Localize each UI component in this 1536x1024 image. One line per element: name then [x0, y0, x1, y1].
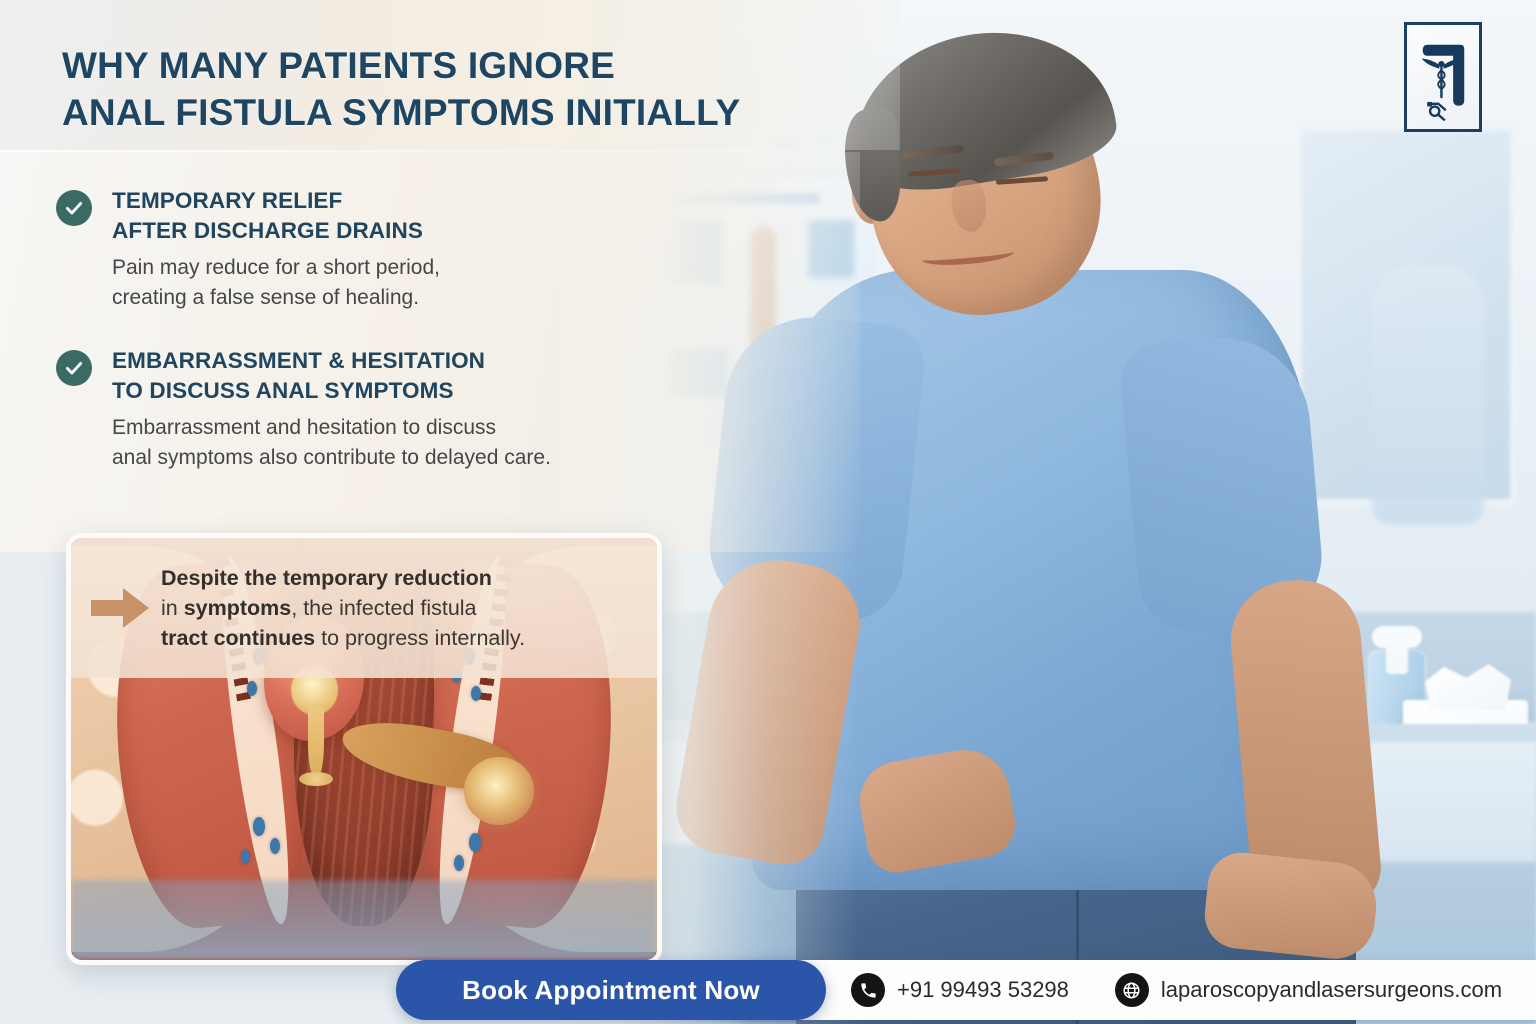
illustration-card: Despite the temporary reduction in sympt…: [66, 533, 662, 965]
callout-text: Despite the temporary reduction in sympt…: [161, 563, 525, 653]
bullet-body: Embarrassment and hesitation to discuss …: [112, 413, 686, 473]
content-panel: WHY MANY PATIENTS IGNORE ANAL FISTULA SY…: [0, 0, 720, 1024]
bottom-cta-bar: Book Appointment Now +91 99493 53298 lap…: [396, 960, 1536, 1020]
bullet-heading: TEMPORARY RELIEF AFTER DISCHARGE DRAINS: [112, 186, 686, 246]
infographic-canvas: WHY MANY PATIENTS IGNORE ANAL FISTULA SY…: [0, 0, 1536, 1024]
bullet-heading-line-2: TO DISCUSS ANAL SYMPTOMS: [112, 376, 686, 406]
bullet-heading-line-2: AFTER DISCHARGE DRAINS: [112, 216, 686, 246]
check-circle-icon: [56, 350, 92, 386]
right-arrow-icon: [89, 585, 151, 631]
bullet-heading-line-1: TEMPORARY RELIEF: [112, 186, 686, 216]
hanging-gown: [1372, 265, 1484, 525]
bullet-item-temporary-relief: TEMPORARY RELIEF AFTER DISCHARGE DRAINS …: [56, 186, 686, 312]
bullet-list: TEMPORARY RELIEF AFTER DISCHARGE DRAINS …: [56, 186, 686, 507]
callout-line-1: Despite the temporary reduction: [161, 566, 492, 590]
phone-icon: [851, 973, 885, 1007]
check-circle-icon: [56, 190, 92, 226]
callout-line-3-post: to progress internally.: [315, 626, 525, 650]
page-title-line-2: ANAL FISTULA SYMPTOMS INITIALLY: [62, 89, 740, 136]
phone-number[interactable]: +91 99493 53298: [897, 977, 1069, 1003]
header-divider: [0, 150, 840, 152]
bullet-item-embarrassment: EMBARRASSMENT & HESITATION TO DISCUSS AN…: [56, 346, 686, 472]
book-appointment-button[interactable]: Book Appointment Now: [396, 960, 826, 1020]
bullet-heading-line-1: EMBARRASSMENT & HESITATION: [112, 346, 686, 376]
laparoscopy-laser-surgeons-logo: [1404, 22, 1482, 132]
callout-box: Despite the temporary reduction in sympt…: [71, 538, 657, 678]
bullet-body-line-2: anal symptoms also contribute to delayed…: [112, 443, 686, 473]
bullet-body-line-2: creating a false sense of healing.: [112, 283, 686, 313]
callout-line-3-bold: tract continues: [161, 626, 315, 650]
callout-line-2-post: , the infected fistula: [291, 596, 476, 620]
bullet-body-line-1: Embarrassment and hesitation to discuss: [112, 413, 686, 443]
page-title: WHY MANY PATIENTS IGNORE ANAL FISTULA SY…: [62, 42, 740, 137]
page-title-line-1: WHY MANY PATIENTS IGNORE: [62, 42, 740, 89]
bullet-heading: EMBARRASSMENT & HESITATION TO DISCUSS AN…: [112, 346, 686, 406]
callout-line-2-bold: symptoms: [184, 596, 292, 620]
contact-info: +91 99493 53298 laparoscopyandlasersurge…: [851, 960, 1502, 1020]
bullet-body: Pain may reduce for a short period, crea…: [112, 253, 686, 313]
bullet-body-line-1: Pain may reduce for a short period,: [112, 253, 686, 283]
globe-icon: [1115, 973, 1149, 1007]
callout-line-2-pre: in: [161, 596, 184, 620]
website-url[interactable]: laparoscopyandlasersurgeons.com: [1161, 977, 1502, 1003]
